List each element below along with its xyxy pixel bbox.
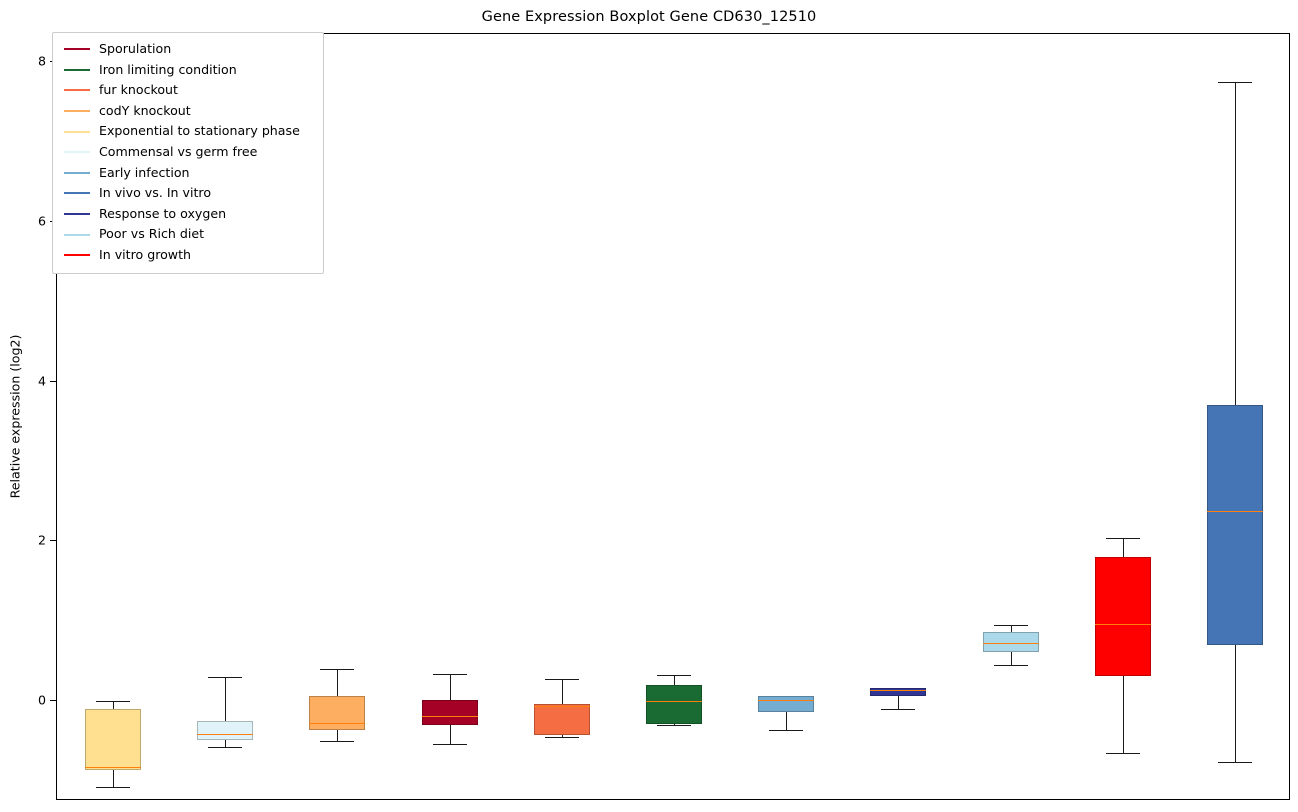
y-tick-label: 6 <box>6 213 46 228</box>
legend-item-exponential-to-stationary-phase[interactable]: Exponential to stationary phase <box>61 121 315 142</box>
boxplot-figure: Gene Expression Boxplot Gene CD630_12510… <box>0 0 1298 812</box>
legend-item-label: Early infection <box>99 167 190 180</box>
legend-item-commensal-vs-germ-free[interactable]: Commensal vs germ free <box>61 142 315 163</box>
legend-item-cody-knockout[interactable]: codY knockout <box>61 101 315 122</box>
chart-title: Gene Expression Boxplot Gene CD630_12510 <box>0 9 1298 25</box>
upper-whisker-cap <box>1218 82 1252 83</box>
legend-color-swatch <box>64 151 90 153</box>
legend-item-poor-vs-rich-diet[interactable]: Poor vs Rich diet <box>61 224 315 245</box>
legend: SporulationIron limiting conditionfur kn… <box>52 32 324 274</box>
legend-color-swatch <box>64 254 90 256</box>
legend-item-label: Commensal vs germ free <box>99 146 257 159</box>
legend-color-swatch <box>64 69 90 71</box>
legend-item-sporulation[interactable]: Sporulation <box>61 39 315 60</box>
legend-color-swatch <box>64 172 90 174</box>
legend-color-swatch <box>64 213 90 215</box>
y-tick-label: 8 <box>6 53 46 68</box>
legend-item-fur-knockout[interactable]: fur knockout <box>61 80 315 101</box>
legend-item-label: In vivo vs. In vitro <box>99 187 211 200</box>
y-axis-label: Relative expression (log2) <box>8 266 23 566</box>
legend-item-label: codY knockout <box>99 105 191 118</box>
lower-whisker-cap <box>1218 762 1252 763</box>
legend-item-label: In vitro growth <box>99 249 191 262</box>
legend-color-swatch <box>64 48 90 50</box>
y-tick-label: 4 <box>6 373 46 388</box>
legend-item-in-vitro-growth[interactable]: In vitro growth <box>61 245 315 266</box>
legend-item-in-vivo-vs-in-vitro[interactable]: In vivo vs. In vitro <box>61 183 315 204</box>
legend-item-iron-limiting-condition[interactable]: Iron limiting condition <box>61 60 315 81</box>
legend-item-early-infection[interactable]: Early infection <box>61 163 315 184</box>
legend-item-label: Poor vs Rich diet <box>99 228 204 241</box>
legend-item-label: Iron limiting condition <box>99 64 237 77</box>
boxplot-box[interactable] <box>1207 405 1263 645</box>
legend-item-response-to-oxygen[interactable]: Response to oxygen <box>61 204 315 225</box>
legend-color-swatch <box>64 89 90 91</box>
y-tick-label: 2 <box>6 533 46 548</box>
legend-color-swatch <box>64 192 90 194</box>
legend-item-label: Exponential to stationary phase <box>99 125 300 138</box>
boxplot-median-line <box>1207 511 1263 512</box>
legend-color-swatch <box>64 110 90 112</box>
legend-item-label: fur knockout <box>99 84 178 97</box>
legend-item-label: Sporulation <box>99 43 171 56</box>
legend-color-swatch <box>64 234 90 236</box>
legend-color-swatch <box>64 131 90 133</box>
y-tick-label: 0 <box>6 693 46 708</box>
legend-item-label: Response to oxygen <box>99 208 226 221</box>
upper-whisker-line <box>1235 82 1236 405</box>
lower-whisker-line <box>1235 645 1236 762</box>
